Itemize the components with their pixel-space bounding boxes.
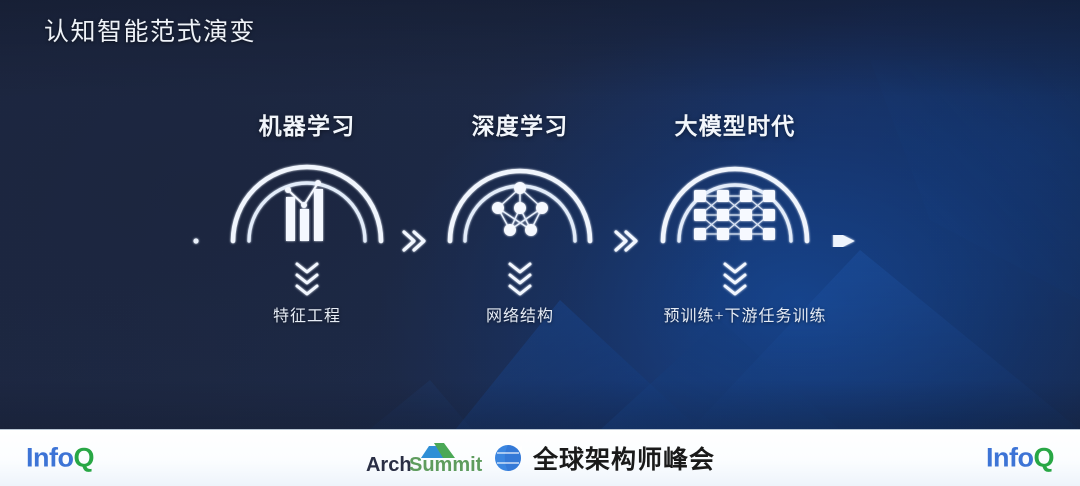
archsummit-summit-text: Summit <box>409 454 483 475</box>
stage-2-arch-icon <box>450 171 590 241</box>
stage-caption-pretrain-finetune: 预训练+下游任务训练 <box>663 305 826 329</box>
bar-chart-icon <box>285 180 323 241</box>
stage-1-arch-icon <box>233 167 381 241</box>
stage-caption-feature-engineering: 特征工程 <box>273 305 341 329</box>
slide-root: 认知智能范式演变 <box>0 0 1080 486</box>
infoq-logo-info-text: Info <box>986 443 1033 473</box>
summit-title: 全球架构师峰会 <box>533 440 715 476</box>
stage-title-machine-learning: 机器学习 <box>259 110 356 142</box>
footer-left-logo: InfoQ <box>26 445 94 472</box>
infoq-logo: InfoQ <box>986 445 1054 472</box>
footer-center-branding: Arch Summit 全球架构师峰会 <box>365 440 715 476</box>
infoq-logo-info-text: Info <box>26 443 73 473</box>
grid-lattice-icon <box>694 190 775 240</box>
down-chevrons-stage-2 <box>510 264 530 294</box>
stage-title-large-model-era: 大模型时代 <box>675 110 796 142</box>
stage-title-deep-learning: 深度学习 <box>472 110 569 142</box>
footer-bar: InfoQ Arch Summit 全球架构师峰会 InfoQ <box>0 429 1080 486</box>
infoq-logo-q-text: Q <box>73 443 94 473</box>
footer-right-logo: InfoQ <box>986 445 1054 472</box>
down-chevrons-stage-3 <box>725 264 745 294</box>
archsummit-arch-text: Arch <box>366 454 412 475</box>
infoq-logo: InfoQ <box>26 445 94 472</box>
globe-icon <box>492 442 524 474</box>
infoq-logo-q-text: Q <box>1033 443 1054 473</box>
archsummit-logo: Arch Summit <box>365 441 483 475</box>
stage-3-arch-icon <box>663 169 807 241</box>
down-chevrons-stage-1 <box>297 264 317 294</box>
stage-caption-network-structure: 网络结构 <box>486 305 554 329</box>
paradigm-timeline-diagram <box>0 0 1080 430</box>
